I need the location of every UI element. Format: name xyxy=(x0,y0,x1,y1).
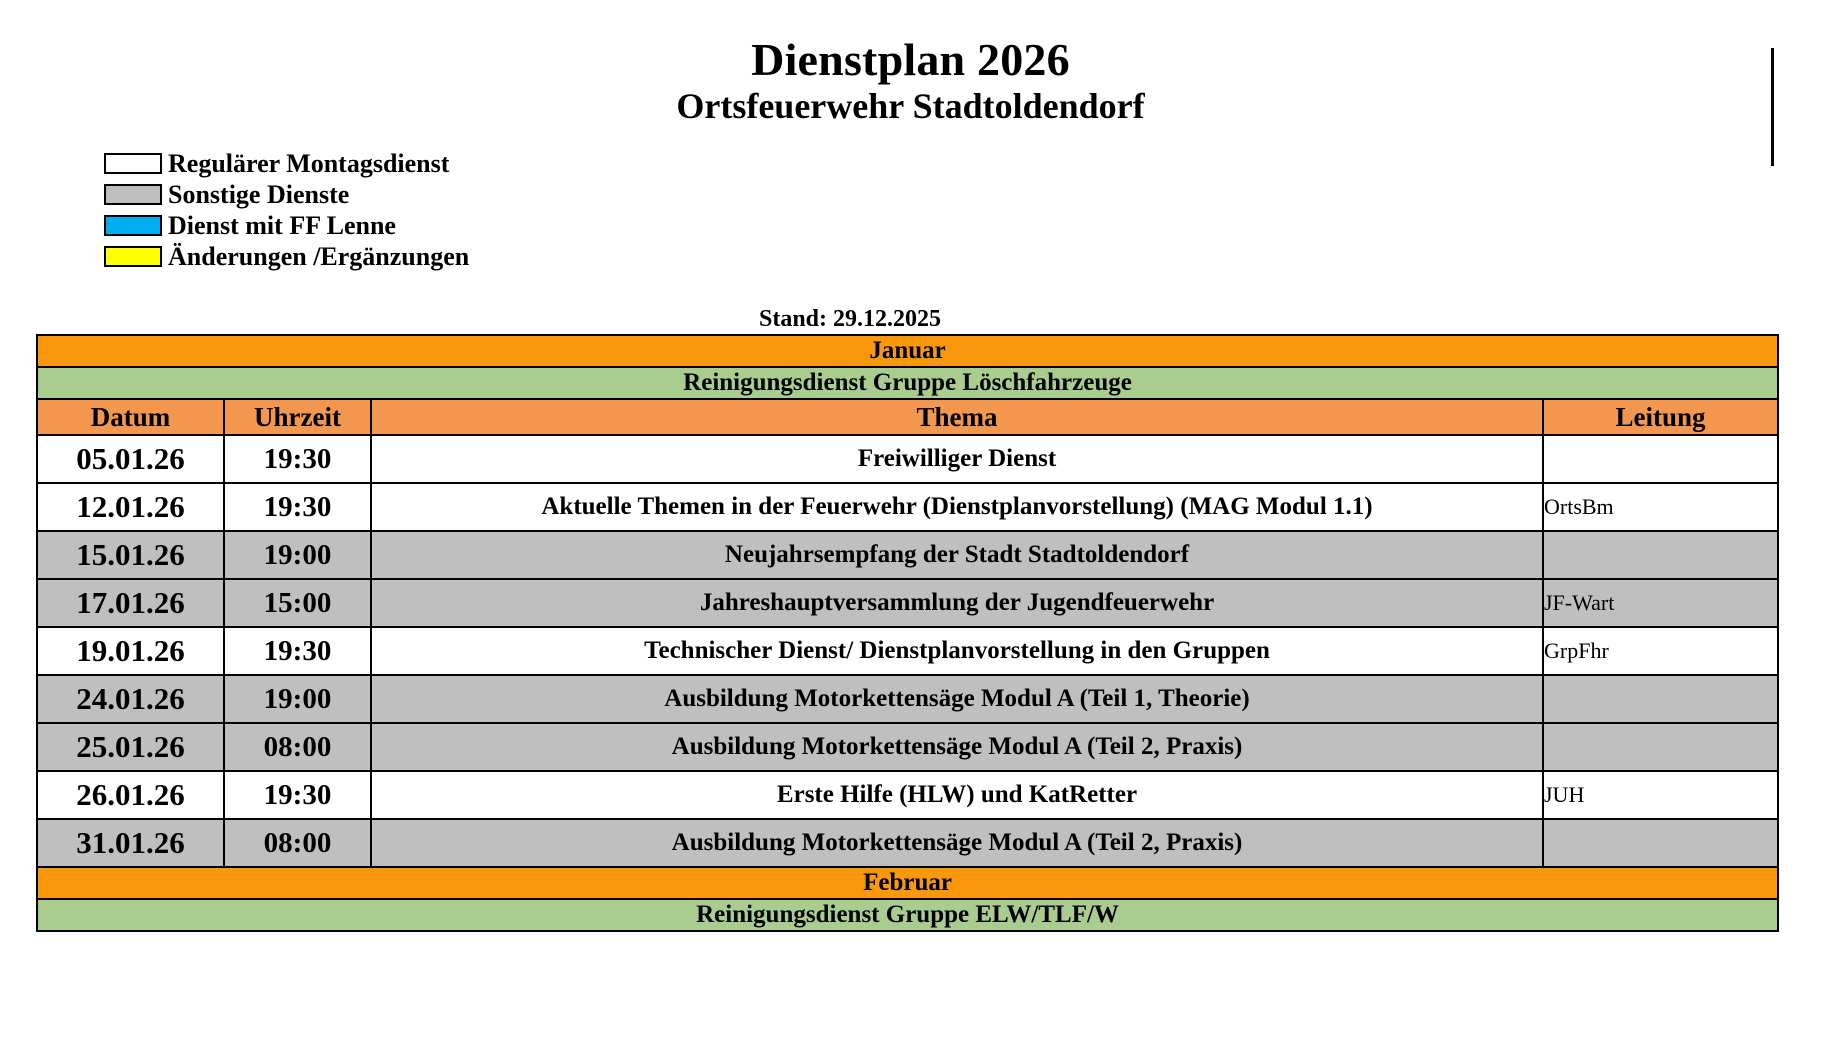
table-row: 25.01.26 08:00 Ausbildung Motorkettensäg… xyxy=(37,723,1778,771)
column-header-row: Datum Uhrzeit Thema Leitung xyxy=(37,399,1778,435)
table-row: 17.01.26 15:00 Jahreshauptversammlung de… xyxy=(37,579,1778,627)
cell-leitung: GrpFhr xyxy=(1543,627,1778,675)
cell-leitung: JUH xyxy=(1543,771,1778,819)
cell-leitung xyxy=(1543,675,1778,723)
column-header-thema: Thema xyxy=(371,399,1543,435)
cleaning-band-januar: Reinigungsdienst Gruppe Löschfahrzeuge xyxy=(37,367,1778,399)
cell-datum: 15.01.26 xyxy=(37,531,224,579)
table-row: 24.01.26 19:00 Ausbildung Motorkettensäg… xyxy=(37,675,1778,723)
cell-thema: Ausbildung Motorkettensäge Modul A (Teil… xyxy=(371,675,1543,723)
table-row: 12.01.26 19:30 Aktuelle Themen in der Fe… xyxy=(37,483,1778,531)
cell-thema: Freiwilliger Dienst xyxy=(371,435,1543,483)
duty-plan-table: Januar Reinigungsdienst Gruppe Löschfahr… xyxy=(36,334,1779,932)
legend-item-changes: Änderungen /Ergänzungen xyxy=(104,241,469,272)
cell-uhrzeit: 08:00 xyxy=(224,723,371,771)
legend-item-regular: Regulärer Montagsdienst xyxy=(104,148,469,179)
month-band-februar: Februar xyxy=(37,867,1778,899)
legend-label: Sonstige Dienste xyxy=(168,182,349,208)
cell-uhrzeit: 19:30 xyxy=(224,435,371,483)
cell-uhrzeit: 19:00 xyxy=(224,531,371,579)
cleaning-duty: Reinigungsdienst Gruppe Löschfahrzeuge xyxy=(37,367,1778,399)
legend-label: Änderungen /Ergänzungen xyxy=(168,244,469,270)
cell-thema: Erste Hilfe (HLW) und KatRetter xyxy=(371,771,1543,819)
page-edge-rule xyxy=(1771,48,1774,166)
column-header-leitung: Leitung xyxy=(1543,399,1778,435)
table-row: 15.01.26 19:00 Neujahrsempfang der Stadt… xyxy=(37,531,1778,579)
cell-leitung: OrtsBm xyxy=(1543,483,1778,531)
cell-leitung xyxy=(1543,723,1778,771)
cleaning-duty: Reinigungsdienst Gruppe ELW/TLF/W xyxy=(37,899,1778,931)
page-title: Dienstplan 2026 Ortsfeuerwehr Stadtolden… xyxy=(0,0,1821,126)
cell-datum: 24.01.26 xyxy=(37,675,224,723)
cell-leitung xyxy=(1543,435,1778,483)
cell-thema: Ausbildung Motorkettensäge Modul A (Teil… xyxy=(371,723,1543,771)
legend-item-lenne: Dienst mit FF Lenne xyxy=(104,210,469,241)
legend-swatch-white-icon xyxy=(104,153,162,174)
cell-uhrzeit: 19:30 xyxy=(224,627,371,675)
cell-uhrzeit: 15:00 xyxy=(224,579,371,627)
title-main: Dienstplan 2026 xyxy=(0,36,1821,84)
table-row: 31.01.26 08:00 Ausbildung Motorkettensäg… xyxy=(37,819,1778,867)
legend-label: Dienst mit FF Lenne xyxy=(168,213,396,239)
cleaning-band-februar: Reinigungsdienst Gruppe ELW/TLF/W xyxy=(37,899,1778,931)
cell-thema: Jahreshauptversammlung der Jugendfeuerwe… xyxy=(371,579,1543,627)
column-header-datum: Datum xyxy=(37,399,224,435)
stand-date: Stand: 29.12.2025 xyxy=(0,306,1700,333)
month-band-januar: Januar xyxy=(37,335,1778,367)
cell-thema: Ausbildung Motorkettensäge Modul A (Teil… xyxy=(371,819,1543,867)
cell-uhrzeit: 19:30 xyxy=(224,483,371,531)
legend-swatch-blue-icon xyxy=(104,215,162,236)
month-name: Februar xyxy=(37,867,1778,899)
cell-thema: Neujahrsempfang der Stadt Stadtoldendorf xyxy=(371,531,1543,579)
cell-uhrzeit: 08:00 xyxy=(224,819,371,867)
table-row: 05.01.26 19:30 Freiwilliger Dienst xyxy=(37,435,1778,483)
cell-datum: 25.01.26 xyxy=(37,723,224,771)
cell-datum: 05.01.26 xyxy=(37,435,224,483)
legend-item-other: Sonstige Dienste xyxy=(104,179,469,210)
cell-datum: 17.01.26 xyxy=(37,579,224,627)
cell-leitung: JF-Wart xyxy=(1543,579,1778,627)
title-subtitle: Ortsfeuerwehr Stadtoldendorf xyxy=(0,86,1821,126)
legend-label: Regulärer Montagsdienst xyxy=(168,151,449,177)
duty-plan-body: Januar Reinigungsdienst Gruppe Löschfahr… xyxy=(37,335,1778,931)
cell-leitung xyxy=(1543,819,1778,867)
month-name: Januar xyxy=(37,335,1778,367)
table-row: 26.01.26 19:30 Erste Hilfe (HLW) und Kat… xyxy=(37,771,1778,819)
cell-thema: Technischer Dienst/ Dienstplanvorstellun… xyxy=(371,627,1543,675)
cell-uhrzeit: 19:00 xyxy=(224,675,371,723)
cell-datum: 31.01.26 xyxy=(37,819,224,867)
cell-thema: Aktuelle Themen in der Feuerwehr (Dienst… xyxy=(371,483,1543,531)
legend-swatch-yellow-icon xyxy=(104,246,162,267)
legend: Regulärer Montagsdienst Sonstige Dienste… xyxy=(104,148,469,272)
cell-datum: 19.01.26 xyxy=(37,627,224,675)
legend-swatch-grey-icon xyxy=(104,184,162,205)
cell-datum: 12.01.26 xyxy=(37,483,224,531)
cell-datum: 26.01.26 xyxy=(37,771,224,819)
cell-uhrzeit: 19:30 xyxy=(224,771,371,819)
column-header-uhrzeit: Uhrzeit xyxy=(224,399,371,435)
table-row: 19.01.26 19:30 Technischer Dienst/ Diens… xyxy=(37,627,1778,675)
cell-leitung xyxy=(1543,531,1778,579)
